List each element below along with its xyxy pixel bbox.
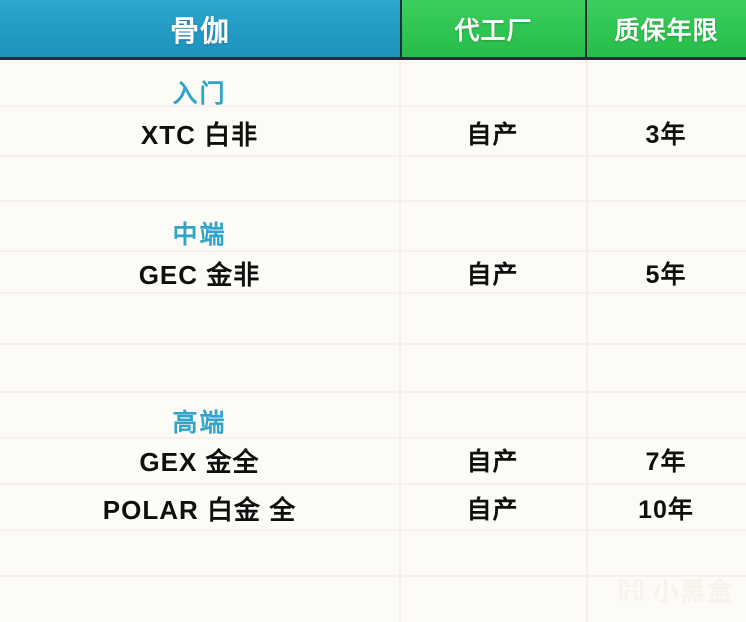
cell-product-name: XTC 白非 (0, 115, 399, 152)
tier-label-midrange: 中端 (0, 215, 399, 251)
cell-product-name: POLAR 白金 全 (0, 490, 399, 527)
header-cell-brand: 骨伽 (0, 0, 400, 57)
screenshot-root: 骨伽 代工厂 质保年限 入门 XTC 白非 自产 3年 中端 GEC 金非 (0, 0, 746, 622)
table-row: XTC 白非 自产 3年 (0, 112, 746, 154)
cell-product-name: GEX 金全 (0, 442, 399, 479)
row-separator (0, 529, 746, 531)
table-row: GEX 金全 自产 7年 (0, 439, 746, 481)
cell-warranty: 3年 (586, 115, 746, 151)
cell-warranty: 10年 (586, 490, 746, 526)
cell-oem: 自产 (399, 255, 586, 291)
row-separator (0, 343, 746, 345)
watermark-text: 小黑盒 (653, 572, 734, 608)
header-cell-warranty: 质保年限 (587, 0, 746, 57)
row-separator (0, 155, 746, 157)
cell-oem: 自产 (399, 490, 586, 526)
hei-he-logo-icon (616, 575, 646, 605)
watermark: 小黑盒 (616, 572, 734, 608)
table-row: POLAR 白金 全 自产 10年 (0, 487, 746, 529)
row-separator (0, 200, 746, 202)
cell-oem: 自产 (399, 115, 586, 151)
table-body: 入门 XTC 白非 自产 3年 中端 GEC 金非 自产 5年 高端 GEX 金… (0, 60, 746, 622)
row-separator (0, 391, 746, 393)
row-separator (0, 483, 746, 485)
table-header-row: 骨伽 代工厂 质保年限 (0, 0, 746, 60)
cell-warranty: 5年 (586, 255, 746, 291)
tier-label-highend: 高端 (0, 403, 399, 439)
header-cell-oem: 代工厂 (400, 0, 587, 57)
cell-product-name: GEC 金非 (0, 255, 399, 292)
tier-label-entry: 入门 (0, 74, 399, 110)
cell-oem: 自产 (399, 442, 586, 478)
table-row: GEC 金非 自产 5年 (0, 252, 746, 294)
cell-warranty: 7年 (586, 442, 746, 478)
